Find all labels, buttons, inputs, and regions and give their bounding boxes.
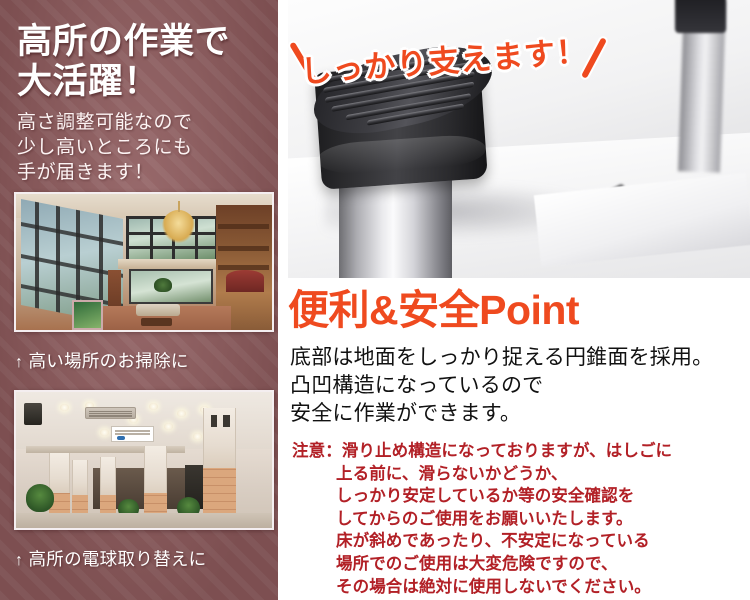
lobby-sign: [111, 426, 155, 442]
left-subheadline-line2: 少し高いところにも: [17, 135, 269, 160]
background-ladder-cap: [675, 0, 726, 33]
point-body-line-2: 凸凹構造になっているので: [290, 372, 748, 400]
photo-lobby: [14, 390, 274, 530]
point-title: 便利&安全Point: [288, 287, 750, 333]
lobby-speaker: [24, 403, 42, 425]
left-subheadline-line3: 手が届きます！: [17, 160, 269, 185]
warning-line-7: その場合は絶対に使用しないでください。: [292, 576, 748, 599]
warning-notice: 注意：滑り止め構造になっておりますが、はしごに 上る前に、滑らないかどうか、 し…: [292, 440, 748, 598]
photo-lobby-caption: ↑ 高所の電球取り替えに: [15, 549, 277, 571]
point-body-line-1: 底部は地面をしっかり捉える円錐面を採用。: [290, 344, 748, 372]
atrium-table: [141, 318, 172, 326]
warning-line-2: 上る前に、滑らないかどうか、: [292, 463, 748, 486]
caption-text-2: 高所の電球取り替えに: [28, 549, 206, 569]
lobby-scene: [16, 392, 272, 528]
caption-arrow-up-1: ↑: [15, 354, 23, 371]
left-subheadline: 高さ調整可能なので 少し高いところにも 手が届きます！: [17, 110, 269, 185]
left-headline: 高所の作業で 大活躍！: [17, 22, 267, 102]
left-headline-line2: 大活躍！: [17, 62, 267, 102]
left-headline-line1: 高所の作業で: [17, 22, 230, 61]
lobby-ceiling-vent: [85, 407, 136, 419]
caption-arrow-up-2: ↑: [15, 552, 23, 569]
warning-line-1: 注意：滑り止め構造になっておりますが、はしごに: [292, 440, 748, 463]
point-body: 底部は地面をしっかり捉える円錐面を採用。 凸凹構造になっているので 安全に作業が…: [290, 344, 748, 428]
atrium-red-panel: [226, 270, 264, 292]
warning-line-5: 床が斜めであったり、不安定になっている: [292, 530, 748, 553]
atrium-picture: [72, 300, 103, 330]
atrium-balcony-rail: [118, 259, 226, 269]
left-feature-panel: 高所の作業で 大活躍！ 高さ調整可能なので 少し高いところにも 手が届きます！: [0, 0, 278, 600]
warning-line-4: してからのご使用をお願いいたします。: [292, 508, 748, 531]
photo-atrium: [14, 192, 274, 332]
lobby-floor: [16, 513, 272, 528]
atrium-scene: [16, 194, 272, 330]
warning-line-6: 場所でのご使用は大変危険ですので、: [292, 553, 748, 576]
caption-text-1: 高い場所のお掃除に: [28, 351, 188, 371]
left-subheadline-line1: 高さ調整可能なので: [17, 110, 269, 135]
photo-atrium-caption: ↑ 高い場所のお掃除に: [15, 351, 277, 373]
advertisement-page: 高所の作業で 大活躍！ 高さ調整可能なので 少し高いところにも 手が届きます！: [0, 0, 750, 600]
point-body-line-3: 安全に作業ができます。: [290, 400, 748, 428]
warning-line-3: しっかり安定しているか等の安全確認を: [292, 485, 748, 508]
atrium-plant: [154, 278, 172, 292]
chandelier: [162, 210, 195, 243]
atrium-sofa: [136, 304, 180, 316]
